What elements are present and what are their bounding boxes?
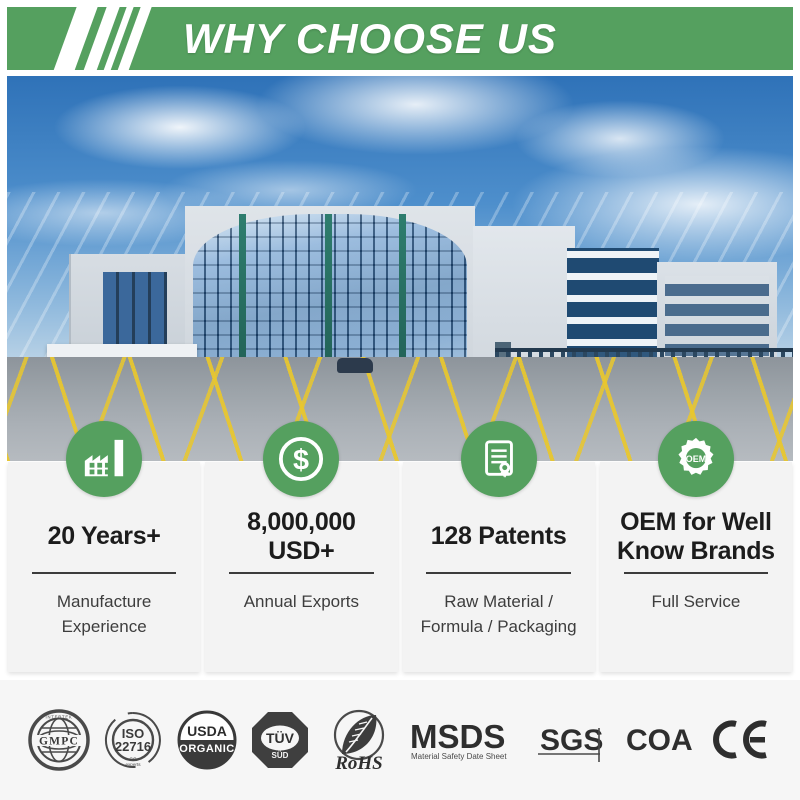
card-divider [32,572,177,574]
stat-label: Raw Material / Formula / Packaging [421,590,577,639]
ce-mark-logo [710,714,772,766]
svg-text:experts: experts [125,762,141,767]
stat-value-line2: Know Brands [617,537,775,565]
why-choose-us-poster: WHY CHOOSE US [0,0,800,800]
svg-text:Material Safety Date Sheet: Material Safety Date Sheet [411,752,507,761]
svg-text:MSDS: MSDS [410,718,505,755]
stat-label: Annual Exports [244,590,359,615]
factory-icon [66,421,142,497]
svg-text:GO: GO [129,757,137,762]
rohs-logo: RoHS [322,707,396,773]
svg-text:SGS: SGS [540,724,603,757]
svg-text:GMPC: GMPC [39,736,79,748]
stat-label: Full Service [651,590,740,615]
stat-value-line2: USD+ [268,537,334,565]
coa-logo: COA [624,714,698,766]
page-title: WHY CHOOSE US [183,7,557,70]
stat-value-line1: OEM for Well [620,508,772,536]
card-divider [624,572,769,574]
svg-text:$: $ [293,445,309,477]
stat-label-line1: Raw Material / [444,592,553,611]
svg-text:USDA: USDA [187,723,227,739]
msds-logo: MSDS Material Safety Date Sheet [408,714,526,766]
stat-value: OEM for Well Know Brands [617,506,775,568]
stat-card-oem[interactable]: OEM OEM for Well Know Brands Full Servic… [600,462,792,672]
stat-value: 128 Patents [431,506,567,568]
card-divider [229,572,374,574]
stat-value-line1: 8,000,000 [247,508,356,536]
svg-text:22716: 22716 [115,739,151,754]
svg-text:SÜD: SÜD [272,751,289,760]
usda-organic-logo: USDA ORGANIC [176,709,238,771]
certification-logos-row: GMPC INTERTEK ISO 22716 GO experts USDA … [0,680,800,800]
svg-text:ORGANIC: ORGANIC [179,743,234,755]
parked-car [337,358,373,373]
oem-gear-icon: OEM [658,421,734,497]
tuv-sud-logo: TÜV SÜD [250,710,310,770]
certificate-icon [461,421,537,497]
svg-text:COA: COA [626,724,693,757]
card-divider [426,572,571,574]
stat-card-patents[interactable]: 128 Patents Raw Material / Formula / Pac… [403,462,595,672]
svg-text:TÜV: TÜV [266,730,295,746]
stat-card-exports[interactable]: $ 8,000,000 USD+ Annual Exports [205,462,397,672]
stat-cards-row: 20 Years+ Manufacture Experience $ 8,000… [8,462,792,672]
svg-text:OEM: OEM [686,454,707,464]
dollar-circle-icon: $ [263,421,339,497]
factory-building-photo [7,76,793,461]
stat-label: Manufacture Experience [57,590,152,639]
stat-label-line1: Manufacture [57,592,152,611]
gmpc-logo: GMPC INTERTEK [28,709,90,771]
sgs-logo: SGS [538,714,612,766]
svg-text:RoHS: RoHS [334,753,383,773]
stat-label-line2: Experience [62,617,147,636]
stat-label-line2: Formula / Packaging [421,617,577,636]
stat-value: 8,000,000 USD+ [247,506,356,568]
svg-text:INTERTEK: INTERTEK [45,715,72,720]
header-banner: WHY CHOOSE US [7,7,793,70]
stat-card-years[interactable]: 20 Years+ Manufacture Experience [8,462,200,672]
iso-22716-logo: ISO 22716 GO experts [102,709,164,771]
stat-value: 20 Years+ [48,506,161,568]
